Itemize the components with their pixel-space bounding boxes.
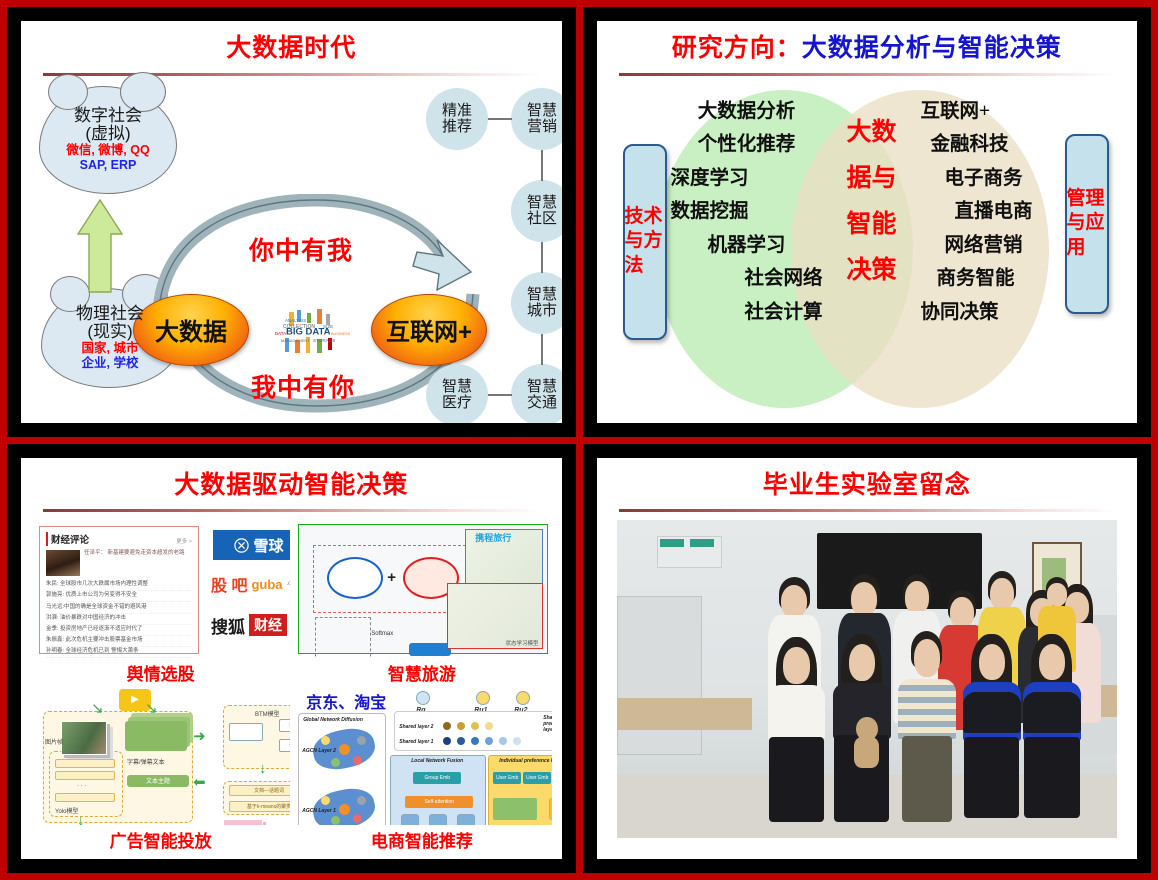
ad-diagram: 图片帧 字幕/弹幕文本 · · · Yolo模型 文本主题 BTM模型: [33, 689, 288, 823]
panel-data-driven-decisions: 大数据驱动智能决策 财经评论 更多 >: [7, 444, 576, 874]
sidebox-technology-methods[interactable]: 技术与方法: [623, 144, 667, 340]
figure-sentiment-stock-picking: 财经评论 更多 > 任泽平： 新基建要避免走资本超发的老路 朱民: 全球股市几次…: [31, 520, 290, 685]
panel3-figures: 财经评论 更多 > 任泽平： 新基建要避免走资本超发的老路 朱民: 全球股市几次…: [21, 512, 562, 852]
news-list: 朱民: 全球股市几次大跌属市场内理性调整 郭施亮: 优质上市公司为何变得不安全 …: [46, 580, 192, 658]
figure-4-art: 京东、淘宝 Rg Ru1 Ru2 Ru3 Global Net: [292, 687, 551, 825]
group-emb-box: Group Emb: [413, 772, 461, 784]
tourism-graph-circle-blue: [327, 557, 383, 599]
venn-right-item-5: 商务智能: [915, 269, 1083, 289]
ad-label-frames: 图片帧: [45, 737, 63, 746]
panel1-inner: 大数据时代 数字社会 (虚拟) 微信, 微博, QQ SAP, ERP 物理社会…: [21, 21, 562, 423]
node-internet-plus[interactable]: 互联网+: [371, 294, 487, 366]
label-shared-prediction: Shared prediction layer: [543, 715, 551, 733]
venn-left-item-5: 社会网络: [671, 269, 823, 289]
tourism-model-label: 状态学习模型: [505, 639, 538, 647]
graph-node: [357, 796, 366, 805]
node-big-data[interactable]: 大数据: [133, 294, 249, 366]
tourism-softmax-label: Softmax: [371, 631, 393, 637]
news-item[interactable]: 金季: 投资房地产已经逐渐不适应时代了: [46, 625, 192, 636]
logo-guba-cn: 股 吧: [211, 572, 247, 596]
venn-left-item-2: 深度学习: [671, 169, 823, 189]
label-shared-layer1: Shared layer 1: [399, 739, 433, 745]
global-network-diffusion-panel: Global Network Diffusion AGCN Layer 2: [298, 713, 386, 825]
panel4-inner: 毕业生实验室留念: [597, 458, 1138, 860]
bubble-0-l2: 推荐: [442, 119, 472, 135]
green-up-arrow-icon: [77, 198, 123, 294]
shared-dot: [443, 737, 451, 745]
r-node-u1: [476, 691, 490, 705]
venn-right-items: 互联网+ 金融科技 电子商务 直播电商 网络营销 商务智能 协同决策: [915, 102, 1083, 337]
panel-big-data-era: 大数据时代 数字社会 (虚拟) 微信, 微博, QQ SAP, ERP 物理社会…: [7, 7, 576, 437]
photo-cabinet-left: [617, 596, 702, 755]
panel2-title-blue: 大数据分析与智能决策: [802, 34, 1062, 62]
venn-mid-item-2: 智能: [837, 212, 907, 237]
logo-sohu-cn: 搜狐: [211, 613, 245, 638]
logo-guba-domain: .com.cn: [287, 581, 291, 587]
label-agcn-layer1: AGCN Layer 1: [302, 808, 336, 814]
figure-ecommerce-recommendation: 京东、淘宝 Rg Ru1 Ru2 Ru3 Global Net: [292, 687, 551, 852]
tourism-plus-icon: +: [387, 569, 396, 586]
user-emb-2: User Emb: [523, 772, 551, 784]
ad-result-cards: [223, 819, 263, 825]
ecommerce-platforms-label: 京东、淘宝: [306, 689, 386, 713]
panel4-title: 毕业生实验室留念: [597, 458, 1138, 500]
news-panel-mock: 财经评论 更多 > 任泽平： 新基建要避免走资本超发的老路 朱民: 全球股市几次…: [39, 526, 199, 654]
bubble-0-l1: 精准: [442, 103, 472, 119]
figure-2-art: + Softmax 携程旅行 状态学习模型: [292, 520, 551, 658]
ad-ellipsis: · · ·: [77, 783, 86, 789]
shared-dot: [485, 737, 493, 745]
shared-dot: [457, 737, 465, 745]
svg-text:MANAGEMENT: MANAGEMENT: [281, 338, 310, 343]
individual-preference-panel: Individual preference learning User Emb …: [488, 755, 551, 825]
graph-node: [339, 744, 350, 755]
photo-person-front-5: [1022, 634, 1082, 818]
photo-shelf-boxes: [657, 536, 722, 568]
photo-person-front-3: [897, 631, 957, 822]
ad-pill-2: [55, 771, 115, 780]
big-data-wordcloud-icon: ANALYSIS COLLECTION SIZE DATA MANAGEMENT…: [273, 308, 351, 356]
label-local-fusion: Local Network Fusion: [411, 758, 463, 764]
panel3-title: 大数据驱动智能决策: [21, 458, 562, 500]
logo-guba-en: guba: [251, 577, 282, 592]
ad-pill-3: [55, 793, 115, 802]
graph-node: [321, 736, 330, 745]
panel2-inner: 研究方向：大数据分析与智能决策 技术与方法 管理与应用 大数据分析 个性化推荐 …: [597, 21, 1138, 423]
bubble-1-l1: 智慧: [527, 103, 557, 119]
connector-healthcare-transport: [488, 394, 512, 396]
news-item[interactable]: 马光远:中国的确是全球资金不错的避风港: [46, 602, 192, 613]
venn-mid-item-0: 大数: [837, 120, 907, 145]
photo-teddy-bear: [852, 717, 882, 768]
panel2-venn-diagram: 技术与方法 管理与应用 大数据分析 个性化推荐 深度学习 数据挖掘 机器学习 社…: [597, 76, 1138, 416]
svg-text:STORAGE: STORAGE: [313, 338, 335, 343]
bubble-smart-marketing[interactable]: 智慧 营销: [511, 88, 562, 150]
ad-label-subtitle: 字幕/弹幕文本: [127, 757, 165, 766]
shared-dot: [471, 722, 479, 730]
ad-pill-1: [55, 759, 115, 768]
connector-community-city: [541, 242, 543, 273]
venn-left-item-6: 社会计算: [671, 303, 823, 323]
target-item-node: [549, 798, 551, 820]
logo-xueqiu-text: 雪球: [253, 535, 283, 556]
bubble-smart-transport[interactable]: 智慧 交通: [511, 364, 562, 423]
graph-node: [321, 796, 330, 805]
logo-sohu-finance: 搜狐 财经: [211, 612, 290, 638]
figure-intelligent-advertising: 图片帧 字幕/弹幕文本 · · · Yolo模型 文本主题 BTM模型: [31, 687, 290, 852]
venn-left-items: 大数据分析 个性化推荐 深度学习 数据挖掘 机器学习 社会网络 社会计算: [671, 102, 823, 337]
venn-right-item-3: 直播电商: [915, 202, 1083, 222]
logo-sohu-badge: 财经: [249, 614, 287, 636]
ad-label-yolo: Yolo模型: [55, 806, 78, 815]
photo-desk-left: [617, 698, 752, 730]
item-note-box: [493, 798, 537, 820]
bubble-precise-recommendation[interactable]: 精准 推荐: [426, 88, 488, 150]
fusion-node: [401, 814, 419, 825]
ad-pill-kmeans: 基于k-means的聚类: [229, 801, 290, 812]
news-panel-title: 财经评论: [46, 532, 89, 546]
graph-node: [357, 736, 366, 745]
tourism-output-node: [409, 643, 451, 656]
r-node-g: [416, 691, 430, 705]
panel1-title: 大数据时代: [21, 21, 562, 63]
shared-dot: [471, 737, 479, 745]
tourism-diagram: + Softmax 携程旅行 状态学习模型: [298, 524, 547, 654]
label-individual-pref: Individual preference learning: [499, 758, 551, 764]
self-attention-box: Self-attention: [405, 796, 473, 808]
connector-marketing: [488, 118, 512, 120]
venn-left-item-0: 大数据分析: [671, 102, 823, 122]
cloud-physical-line4: 企业, 学校: [82, 356, 139, 370]
ad-text-stack: [125, 721, 187, 751]
xueqiu-mark-icon: [234, 538, 249, 553]
label-agcn-layer2: AGCN Layer 2: [302, 748, 336, 754]
tourism-embedding-stack: [315, 617, 371, 658]
figure-1-art: 财经评论 更多 > 任泽平： 新基建要避免走资本超发的老路 朱民: 全球股市几次…: [31, 520, 290, 658]
shared-dot: [499, 737, 507, 745]
venn-left-item-1: 个性化推荐: [671, 135, 823, 155]
news-more-link[interactable]: 更多 >: [176, 537, 192, 545]
local-network-fusion-panel: Local Network Fusion Group Emb Self-atte…: [390, 755, 486, 825]
bubble-smart-healthcare[interactable]: 智慧 医疗: [426, 364, 488, 423]
cloud-physical-line2: (现实): [87, 323, 132, 341]
venn-right-item-2: 电子商务: [915, 169, 1083, 189]
bubble-2-l2: 社区: [527, 211, 557, 227]
panel4-photo-area: [597, 512, 1138, 852]
shared-prediction-layer-panel: Shared prediction layer Shared layer 2 S…: [394, 711, 551, 751]
fusion-node: [429, 814, 447, 825]
news-thumbnail: [46, 550, 80, 576]
news-item[interactable]: 孙明春: 全球经济危机已到 警惕大萧条: [46, 647, 192, 658]
bubble-4-l1: 智慧: [527, 379, 557, 395]
ad-image-frames: [61, 721, 107, 755]
news-item[interactable]: 朱民: 全球股市几次大跌属市场内理性调整: [46, 580, 192, 591]
figure-smart-tourism: + Softmax 携程旅行 状态学习模型 智慧旅游: [292, 520, 551, 685]
shared-dot: [485, 722, 493, 730]
panel2-title: 研究方向：大数据分析与智能决策: [597, 21, 1138, 63]
connector-marketing-community: [541, 150, 543, 181]
figure-1-caption: 舆情选股: [127, 660, 195, 685]
user-emb-1: User Emb: [493, 772, 521, 784]
panel3-inner: 大数据驱动智能决策 财经评论 更多 >: [21, 458, 562, 860]
cloud-digital-line1: 数字社会: [74, 107, 142, 125]
graph-node: [353, 756, 362, 765]
news-item[interactable]: 洪灏: 油价暴跌对中国经济的冲击: [46, 614, 192, 625]
cloud-digital-line2: (虚拟): [85, 125, 130, 143]
graph-node: [353, 814, 362, 823]
graduation-group-photo: [617, 520, 1118, 838]
svg-text:BIG DATA: BIG DATA: [286, 326, 331, 337]
cloud-digital-line4: SAP, ERP: [80, 158, 137, 172]
cycle-text-top: 你中有我: [249, 231, 353, 267]
cloud-physical-line1: 物理社会: [76, 305, 144, 323]
figure-3-art: 图片帧 字幕/弹幕文本 · · · Yolo模型 文本主题 BTM模型: [31, 687, 290, 825]
ad-box-doc: [229, 723, 263, 741]
bubble-smart-city[interactable]: 智慧 城市: [511, 272, 562, 334]
svg-text:ANALYSIS: ANALYSIS: [285, 318, 306, 323]
bubble-3-l2: 城市: [527, 303, 557, 319]
bubble-1-l2: 营销: [527, 119, 557, 135]
bubble-2-l1: 智慧: [527, 195, 557, 211]
venn-mid-item-1: 据与: [837, 166, 907, 191]
ad-text-topic: 文本主题: [127, 775, 189, 787]
ad-label-btm: BTM模型: [255, 709, 280, 718]
ad-box-word2: 词入: [279, 739, 290, 752]
bubble-smart-community[interactable]: 智慧 社区: [511, 180, 562, 242]
venn-right-item-0: 互联网+: [915, 102, 1083, 122]
panel-research-direction: 研究方向：大数据分析与智能决策 技术与方法 管理与应用 大数据分析 个性化推荐 …: [583, 7, 1152, 437]
ecommerce-diagram: 京东、淘宝 Rg Ru1 Ru2 Ru3 Global Net: [294, 689, 549, 823]
logo-xueqiu: 雪球: [213, 530, 290, 560]
figure-2-caption: 智慧旅游: [388, 660, 456, 685]
figure-4-caption: 电商智能推荐: [371, 827, 473, 852]
logo-guba: 股 吧 guba .com.cn: [211, 572, 290, 596]
cloud-digital-society: 数字社会 (虚拟) 微信, 微博, QQ SAP, ERP: [39, 86, 177, 194]
venn-right-item-4: 网络营销: [915, 236, 1083, 256]
photo-person-front-1: [767, 637, 827, 821]
venn-right-item-1: 金融科技: [915, 135, 1083, 155]
venn-right-item-6: 协同决策: [915, 303, 1083, 323]
venn-mid-item-3: 决策: [837, 258, 907, 283]
shared-dot: [457, 722, 465, 730]
connector-city-transport: [541, 334, 543, 365]
shared-dot: [443, 722, 451, 730]
ad-box-word1: 词入: [279, 719, 290, 732]
graph-node: [331, 816, 340, 825]
ad-pill-doc-topic: 文档—话题词: [229, 785, 290, 796]
bubble-5-l2: 医疗: [442, 395, 472, 411]
panel1-diagram: 数字社会 (虚拟) 微信, 微博, QQ SAP, ERP 物理社会 (现实) …: [21, 76, 562, 416]
label-shared-layer2: Shared layer 2: [399, 724, 433, 730]
cloud-physical-line3: 国家, 城市: [82, 341, 139, 355]
panel-graduate-photo: 毕业生实验室留念: [583, 444, 1152, 874]
venn-left-item-4: 机器学习: [671, 236, 823, 256]
r-node-u2: [516, 691, 530, 705]
poster-root: 大数据时代 数字社会 (虚拟) 微信, 微博, QQ SAP, ERP 物理社会…: [0, 0, 1158, 880]
graph-node: [331, 758, 340, 767]
graph-node: [339, 804, 350, 815]
svg-text:DATA: DATA: [275, 331, 286, 336]
shared-dot: [513, 737, 521, 745]
cloud-digital-line3: 微信, 微博, QQ: [66, 143, 149, 157]
bubble-3-l1: 智慧: [527, 287, 557, 303]
venn-left-item-3: 数据挖掘: [671, 202, 823, 222]
news-item[interactable]: 朱振鑫: 此次危机主要冲击股票基金市场: [46, 636, 192, 647]
cycle-text-bottom: 我中有你: [251, 368, 355, 404]
logo-ctrip: 携程旅行: [475, 531, 511, 544]
news-item[interactable]: 郭施亮: 优质上市公司为何变得不安全: [46, 591, 192, 602]
bubble-4-l2: 交通: [527, 395, 557, 411]
panel2-title-red: 研究方向：: [672, 34, 802, 62]
news-lead-text: 任泽平： 新基建要避免走资本超发的老路: [84, 550, 185, 576]
venn-overlap-items: 大数 据与 智能 决策: [837, 120, 907, 304]
photo-person-front-4: [962, 634, 1022, 818]
bubble-5-l1: 智慧: [442, 379, 472, 395]
label-global-diffusion: Global Network Diffusion: [303, 717, 363, 723]
figure-3-caption: 广告智能投放: [110, 827, 212, 852]
svg-text:BUSINESS: BUSINESS: [331, 332, 351, 336]
fusion-node: [457, 814, 475, 825]
